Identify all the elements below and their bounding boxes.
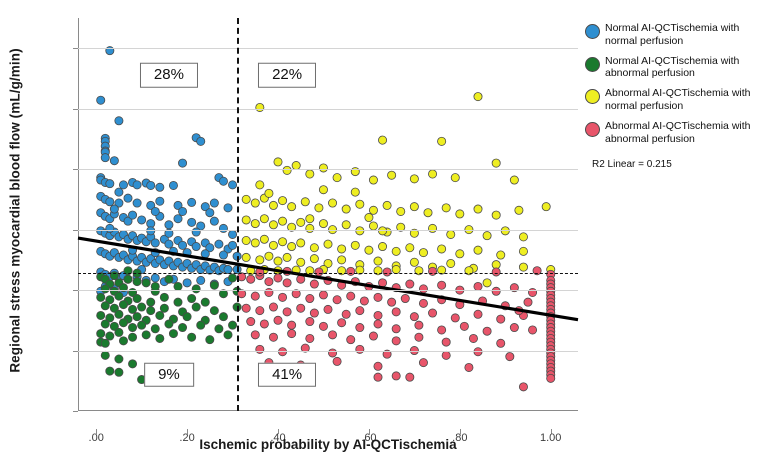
data-point bbox=[178, 207, 186, 215]
data-point bbox=[297, 304, 305, 312]
data-point bbox=[406, 373, 414, 381]
data-point bbox=[219, 251, 227, 259]
data-point bbox=[97, 96, 105, 104]
data-point bbox=[342, 221, 350, 229]
data-point bbox=[138, 216, 146, 224]
data-point bbox=[283, 279, 291, 287]
data-point bbox=[392, 372, 400, 380]
data-point bbox=[438, 281, 446, 289]
data-point bbox=[106, 224, 114, 232]
data-point bbox=[101, 302, 109, 310]
data-point bbox=[474, 93, 482, 101]
data-point bbox=[510, 323, 518, 331]
data-point bbox=[215, 240, 223, 248]
data-point bbox=[319, 186, 327, 194]
data-point bbox=[156, 197, 164, 205]
quadrant-percentage-box: 9% bbox=[144, 362, 194, 387]
data-point bbox=[242, 195, 250, 203]
quadrant-percentage-box: 22% bbox=[258, 63, 316, 88]
data-point bbox=[101, 351, 109, 359]
data-point bbox=[106, 180, 114, 188]
data-point bbox=[392, 308, 400, 316]
data-point bbox=[169, 330, 177, 338]
data-point bbox=[133, 294, 141, 302]
data-point bbox=[183, 313, 191, 321]
data-point bbox=[256, 256, 264, 264]
data-point bbox=[542, 203, 550, 211]
data-point bbox=[419, 359, 427, 367]
data-point bbox=[356, 323, 364, 331]
legend-swatch-icon bbox=[585, 89, 600, 104]
data-point bbox=[269, 221, 277, 229]
data-point bbox=[119, 181, 127, 189]
legend-item[interactable]: Abnormal AI-QCTischemia with normal perf… bbox=[592, 87, 758, 113]
data-point bbox=[115, 188, 123, 196]
data-point bbox=[210, 217, 218, 225]
data-point bbox=[333, 174, 341, 182]
data-point bbox=[251, 239, 259, 247]
gridline bbox=[78, 230, 578, 231]
data-point bbox=[356, 307, 364, 315]
data-point bbox=[165, 221, 173, 229]
data-point bbox=[115, 328, 123, 336]
data-point bbox=[115, 355, 123, 363]
data-point bbox=[128, 305, 136, 313]
data-point bbox=[169, 181, 177, 189]
data-point bbox=[228, 321, 236, 329]
y-tick-mark bbox=[73, 169, 78, 170]
data-point bbox=[419, 299, 427, 307]
data-point bbox=[274, 274, 282, 282]
data-point bbox=[133, 313, 141, 321]
data-point bbox=[97, 311, 105, 319]
data-point bbox=[406, 280, 414, 288]
data-point bbox=[319, 322, 327, 330]
data-point bbox=[428, 224, 436, 232]
data-point bbox=[369, 176, 377, 184]
legend-item[interactable]: Abnormal AI-QCTischemia with abnormal pe… bbox=[592, 120, 758, 146]
data-point bbox=[460, 322, 468, 330]
data-point bbox=[365, 213, 373, 221]
data-point bbox=[474, 205, 482, 213]
data-point bbox=[101, 154, 109, 162]
data-point bbox=[324, 240, 332, 248]
data-point bbox=[192, 303, 200, 311]
data-point bbox=[492, 159, 500, 167]
data-point bbox=[142, 279, 150, 287]
data-point bbox=[128, 360, 136, 368]
y-axis-label: Regional stress myocardial blood flow (m… bbox=[2, 0, 28, 420]
data-point bbox=[206, 209, 214, 217]
data-point bbox=[119, 337, 127, 345]
data-point bbox=[101, 285, 109, 293]
data-point bbox=[474, 246, 482, 254]
data-point bbox=[110, 205, 118, 213]
legend-item[interactable]: Normal AI-QCTischemia with normal perfus… bbox=[592, 22, 758, 48]
data-point bbox=[547, 374, 555, 382]
data-point bbox=[315, 204, 323, 212]
data-point bbox=[260, 215, 268, 223]
data-point bbox=[438, 326, 446, 334]
horizontal-threshold-line bbox=[78, 273, 578, 274]
data-point bbox=[210, 281, 218, 289]
data-point bbox=[251, 219, 259, 227]
data-point bbox=[283, 166, 291, 174]
data-point bbox=[242, 216, 250, 224]
data-point bbox=[497, 251, 505, 259]
data-point bbox=[338, 319, 346, 327]
data-point bbox=[519, 383, 527, 391]
data-point bbox=[533, 267, 541, 275]
data-point bbox=[492, 287, 500, 295]
data-point bbox=[247, 317, 255, 325]
data-point bbox=[269, 201, 277, 209]
data-point bbox=[501, 227, 509, 235]
data-point bbox=[278, 217, 286, 225]
data-point bbox=[297, 239, 305, 247]
data-point bbox=[451, 314, 459, 322]
data-point bbox=[306, 224, 314, 232]
data-point bbox=[497, 315, 505, 323]
data-point bbox=[151, 207, 159, 215]
legend-swatch-icon bbox=[585, 24, 600, 39]
legend-label: Abnormal AI-QCTischemia with abnormal pe… bbox=[605, 120, 758, 146]
data-point bbox=[228, 274, 236, 282]
data-point bbox=[265, 252, 273, 260]
data-point bbox=[147, 298, 155, 306]
data-point bbox=[151, 239, 159, 247]
data-point bbox=[174, 298, 182, 306]
data-point bbox=[360, 297, 368, 305]
data-point bbox=[165, 275, 173, 283]
data-point bbox=[347, 292, 355, 300]
data-point bbox=[306, 170, 314, 178]
data-point bbox=[388, 298, 396, 306]
data-point bbox=[138, 321, 146, 329]
data-point bbox=[147, 181, 155, 189]
data-point bbox=[447, 230, 455, 238]
data-point bbox=[369, 206, 377, 214]
data-point bbox=[351, 188, 359, 196]
data-point bbox=[156, 311, 164, 319]
data-point bbox=[124, 267, 132, 275]
data-point bbox=[156, 334, 164, 342]
data-point bbox=[351, 241, 359, 249]
data-point bbox=[306, 267, 314, 275]
data-point bbox=[465, 267, 473, 275]
legend-item[interactable]: Normal AI-QCTischemia with abnormal perf… bbox=[592, 55, 758, 81]
data-point bbox=[165, 240, 173, 248]
data-point bbox=[442, 204, 450, 212]
data-point bbox=[428, 170, 436, 178]
data-point bbox=[174, 215, 182, 223]
data-point bbox=[101, 320, 109, 328]
data-point bbox=[310, 309, 318, 317]
data-point bbox=[442, 338, 450, 346]
data-point bbox=[392, 325, 400, 333]
quadrant-percentage-box: 28% bbox=[140, 63, 198, 88]
data-point bbox=[310, 255, 318, 263]
data-point bbox=[260, 320, 268, 328]
data-point bbox=[297, 218, 305, 226]
data-point bbox=[224, 331, 232, 339]
data-point bbox=[410, 175, 418, 183]
data-point bbox=[392, 337, 400, 345]
data-point bbox=[265, 189, 273, 197]
data-point bbox=[438, 245, 446, 253]
y-tick-mark bbox=[73, 351, 78, 352]
data-point bbox=[106, 367, 114, 375]
y-tick-mark bbox=[73, 48, 78, 49]
chart-root: Regional stress myocardial blood flow (m… bbox=[0, 0, 760, 465]
data-point bbox=[319, 291, 327, 299]
data-point bbox=[260, 235, 268, 243]
data-point bbox=[428, 267, 436, 275]
data-point bbox=[251, 292, 259, 300]
data-point bbox=[278, 293, 286, 301]
data-point bbox=[374, 373, 382, 381]
data-point bbox=[374, 362, 382, 370]
data-point bbox=[228, 230, 236, 238]
data-point bbox=[133, 278, 141, 286]
vertical-threshold-line bbox=[237, 18, 239, 411]
data-point bbox=[278, 238, 286, 246]
data-point bbox=[306, 294, 314, 302]
data-point bbox=[378, 242, 386, 250]
gridline bbox=[78, 48, 578, 49]
data-point bbox=[338, 245, 346, 253]
data-point bbox=[365, 246, 373, 254]
data-point bbox=[283, 253, 291, 261]
data-point bbox=[256, 103, 264, 111]
data-point bbox=[374, 320, 382, 328]
data-point bbox=[160, 293, 168, 301]
data-point bbox=[319, 219, 327, 227]
data-point bbox=[115, 117, 123, 125]
plot-area: .001.002.003.004.005.006.00.00.20.40.60.… bbox=[78, 18, 578, 411]
data-point bbox=[374, 257, 382, 265]
data-point bbox=[378, 279, 386, 287]
data-point bbox=[338, 256, 346, 264]
y-tick-mark bbox=[73, 411, 78, 412]
data-point bbox=[251, 199, 259, 207]
data-point bbox=[497, 339, 505, 347]
data-point bbox=[192, 242, 200, 250]
data-point bbox=[197, 137, 205, 145]
data-point bbox=[374, 267, 382, 275]
data-point bbox=[247, 275, 255, 283]
data-point bbox=[378, 227, 386, 235]
data-point bbox=[219, 313, 227, 321]
data-point bbox=[269, 303, 277, 311]
data-point bbox=[128, 333, 136, 341]
data-point bbox=[483, 327, 491, 335]
r2-annotation: R2 Linear = 0.215 bbox=[592, 159, 758, 170]
data-point bbox=[124, 275, 132, 283]
data-point bbox=[356, 227, 364, 235]
data-point bbox=[401, 294, 409, 302]
data-point bbox=[288, 330, 296, 338]
data-point bbox=[419, 248, 427, 256]
y-tick-mark bbox=[73, 109, 78, 110]
data-point bbox=[133, 181, 141, 189]
data-point bbox=[178, 159, 186, 167]
data-point bbox=[201, 250, 209, 258]
data-point bbox=[178, 241, 186, 249]
data-point bbox=[106, 332, 114, 340]
data-point bbox=[474, 348, 482, 356]
data-point bbox=[483, 279, 491, 287]
y-tick-mark bbox=[73, 230, 78, 231]
data-point bbox=[342, 310, 350, 318]
data-point bbox=[515, 206, 523, 214]
data-point bbox=[142, 331, 150, 339]
data-point bbox=[342, 205, 350, 213]
data-point bbox=[297, 258, 305, 266]
data-point bbox=[274, 257, 282, 265]
legend-label: Normal AI-QCTischemia with normal perfus… bbox=[605, 22, 758, 48]
data-point bbox=[201, 298, 209, 306]
data-point bbox=[119, 319, 127, 327]
data-point bbox=[224, 204, 232, 212]
data-point bbox=[188, 294, 196, 302]
y-tick-mark bbox=[73, 290, 78, 291]
data-point bbox=[288, 321, 296, 329]
data-point bbox=[188, 198, 196, 206]
legend: Normal AI-QCTischemia with normal perfus… bbox=[592, 22, 758, 170]
data-point bbox=[242, 253, 250, 261]
data-point bbox=[256, 181, 264, 189]
data-point bbox=[442, 351, 450, 359]
data-point bbox=[178, 323, 186, 331]
data-point bbox=[278, 196, 286, 204]
data-point bbox=[519, 263, 527, 271]
data-point bbox=[101, 339, 109, 347]
data-point bbox=[306, 215, 314, 223]
data-point bbox=[228, 181, 236, 189]
gridline bbox=[78, 351, 578, 352]
data-point bbox=[278, 348, 286, 356]
data-point bbox=[192, 285, 200, 293]
data-point bbox=[256, 307, 264, 315]
data-point bbox=[206, 336, 214, 344]
data-point bbox=[456, 210, 464, 218]
data-point bbox=[115, 310, 123, 318]
data-point bbox=[383, 201, 391, 209]
data-point bbox=[519, 233, 527, 241]
data-point bbox=[428, 309, 436, 317]
data-point bbox=[324, 305, 332, 313]
data-point bbox=[151, 325, 159, 333]
data-point bbox=[133, 199, 141, 207]
data-point bbox=[256, 345, 264, 353]
data-point bbox=[374, 293, 382, 301]
data-point bbox=[283, 308, 291, 316]
data-point bbox=[306, 334, 314, 342]
data-point bbox=[97, 293, 105, 301]
data-point bbox=[274, 316, 282, 324]
data-point bbox=[374, 311, 382, 319]
data-point bbox=[397, 207, 405, 215]
data-point bbox=[528, 326, 536, 334]
data-point bbox=[219, 224, 227, 232]
data-point bbox=[301, 198, 309, 206]
legend-label: Normal AI-QCTischemia with abnormal perf… bbox=[605, 55, 758, 81]
data-point bbox=[356, 345, 364, 353]
data-point bbox=[274, 158, 282, 166]
data-point bbox=[328, 199, 336, 207]
legend-swatch-icon bbox=[585, 57, 600, 72]
data-point bbox=[219, 177, 227, 185]
data-point bbox=[151, 274, 159, 282]
data-point bbox=[378, 136, 386, 144]
data-point bbox=[438, 137, 446, 145]
data-point bbox=[210, 307, 218, 315]
data-point bbox=[242, 236, 250, 244]
data-point bbox=[524, 298, 532, 306]
data-point bbox=[419, 285, 427, 293]
legend-swatch-icon bbox=[585, 122, 600, 137]
data-point bbox=[483, 232, 491, 240]
data-point bbox=[106, 198, 114, 206]
data-point bbox=[510, 176, 518, 184]
data-point bbox=[447, 259, 455, 267]
data-point bbox=[97, 330, 105, 338]
data-point bbox=[128, 211, 136, 219]
data-point bbox=[251, 331, 259, 339]
data-point bbox=[269, 241, 277, 249]
data-point bbox=[188, 218, 196, 226]
data-point bbox=[269, 333, 277, 341]
data-point bbox=[338, 267, 346, 275]
data-point bbox=[424, 209, 432, 217]
data-point bbox=[138, 303, 146, 311]
data-point bbox=[160, 304, 168, 312]
data-point bbox=[506, 352, 514, 360]
data-point bbox=[415, 267, 423, 275]
data-point bbox=[406, 244, 414, 252]
data-point bbox=[410, 258, 418, 266]
legend-label: Abnormal AI-QCTischemia with normal perf… bbox=[605, 87, 758, 113]
gridline bbox=[78, 290, 578, 291]
data-point bbox=[415, 321, 423, 329]
data-point bbox=[183, 279, 191, 287]
data-point bbox=[456, 250, 464, 258]
data-point bbox=[310, 280, 318, 288]
data-point bbox=[451, 174, 459, 182]
data-point bbox=[156, 183, 164, 191]
data-point bbox=[474, 310, 482, 318]
data-point bbox=[228, 241, 236, 249]
data-point bbox=[288, 203, 296, 211]
data-point bbox=[215, 325, 223, 333]
data-point bbox=[333, 296, 341, 304]
quadrant-percentage-box: 41% bbox=[258, 362, 316, 387]
data-point bbox=[519, 247, 527, 255]
data-point bbox=[415, 333, 423, 341]
data-point bbox=[333, 357, 341, 365]
data-point bbox=[356, 200, 364, 208]
x-axis-label: Ischemic probability by AI-QCTischemia bbox=[78, 437, 578, 452]
data-point bbox=[410, 203, 418, 211]
data-point bbox=[165, 320, 173, 328]
data-point bbox=[265, 278, 273, 286]
data-point bbox=[242, 304, 250, 312]
data-point bbox=[124, 194, 132, 202]
data-point bbox=[188, 333, 196, 341]
data-point bbox=[288, 242, 296, 250]
data-point bbox=[310, 244, 318, 252]
